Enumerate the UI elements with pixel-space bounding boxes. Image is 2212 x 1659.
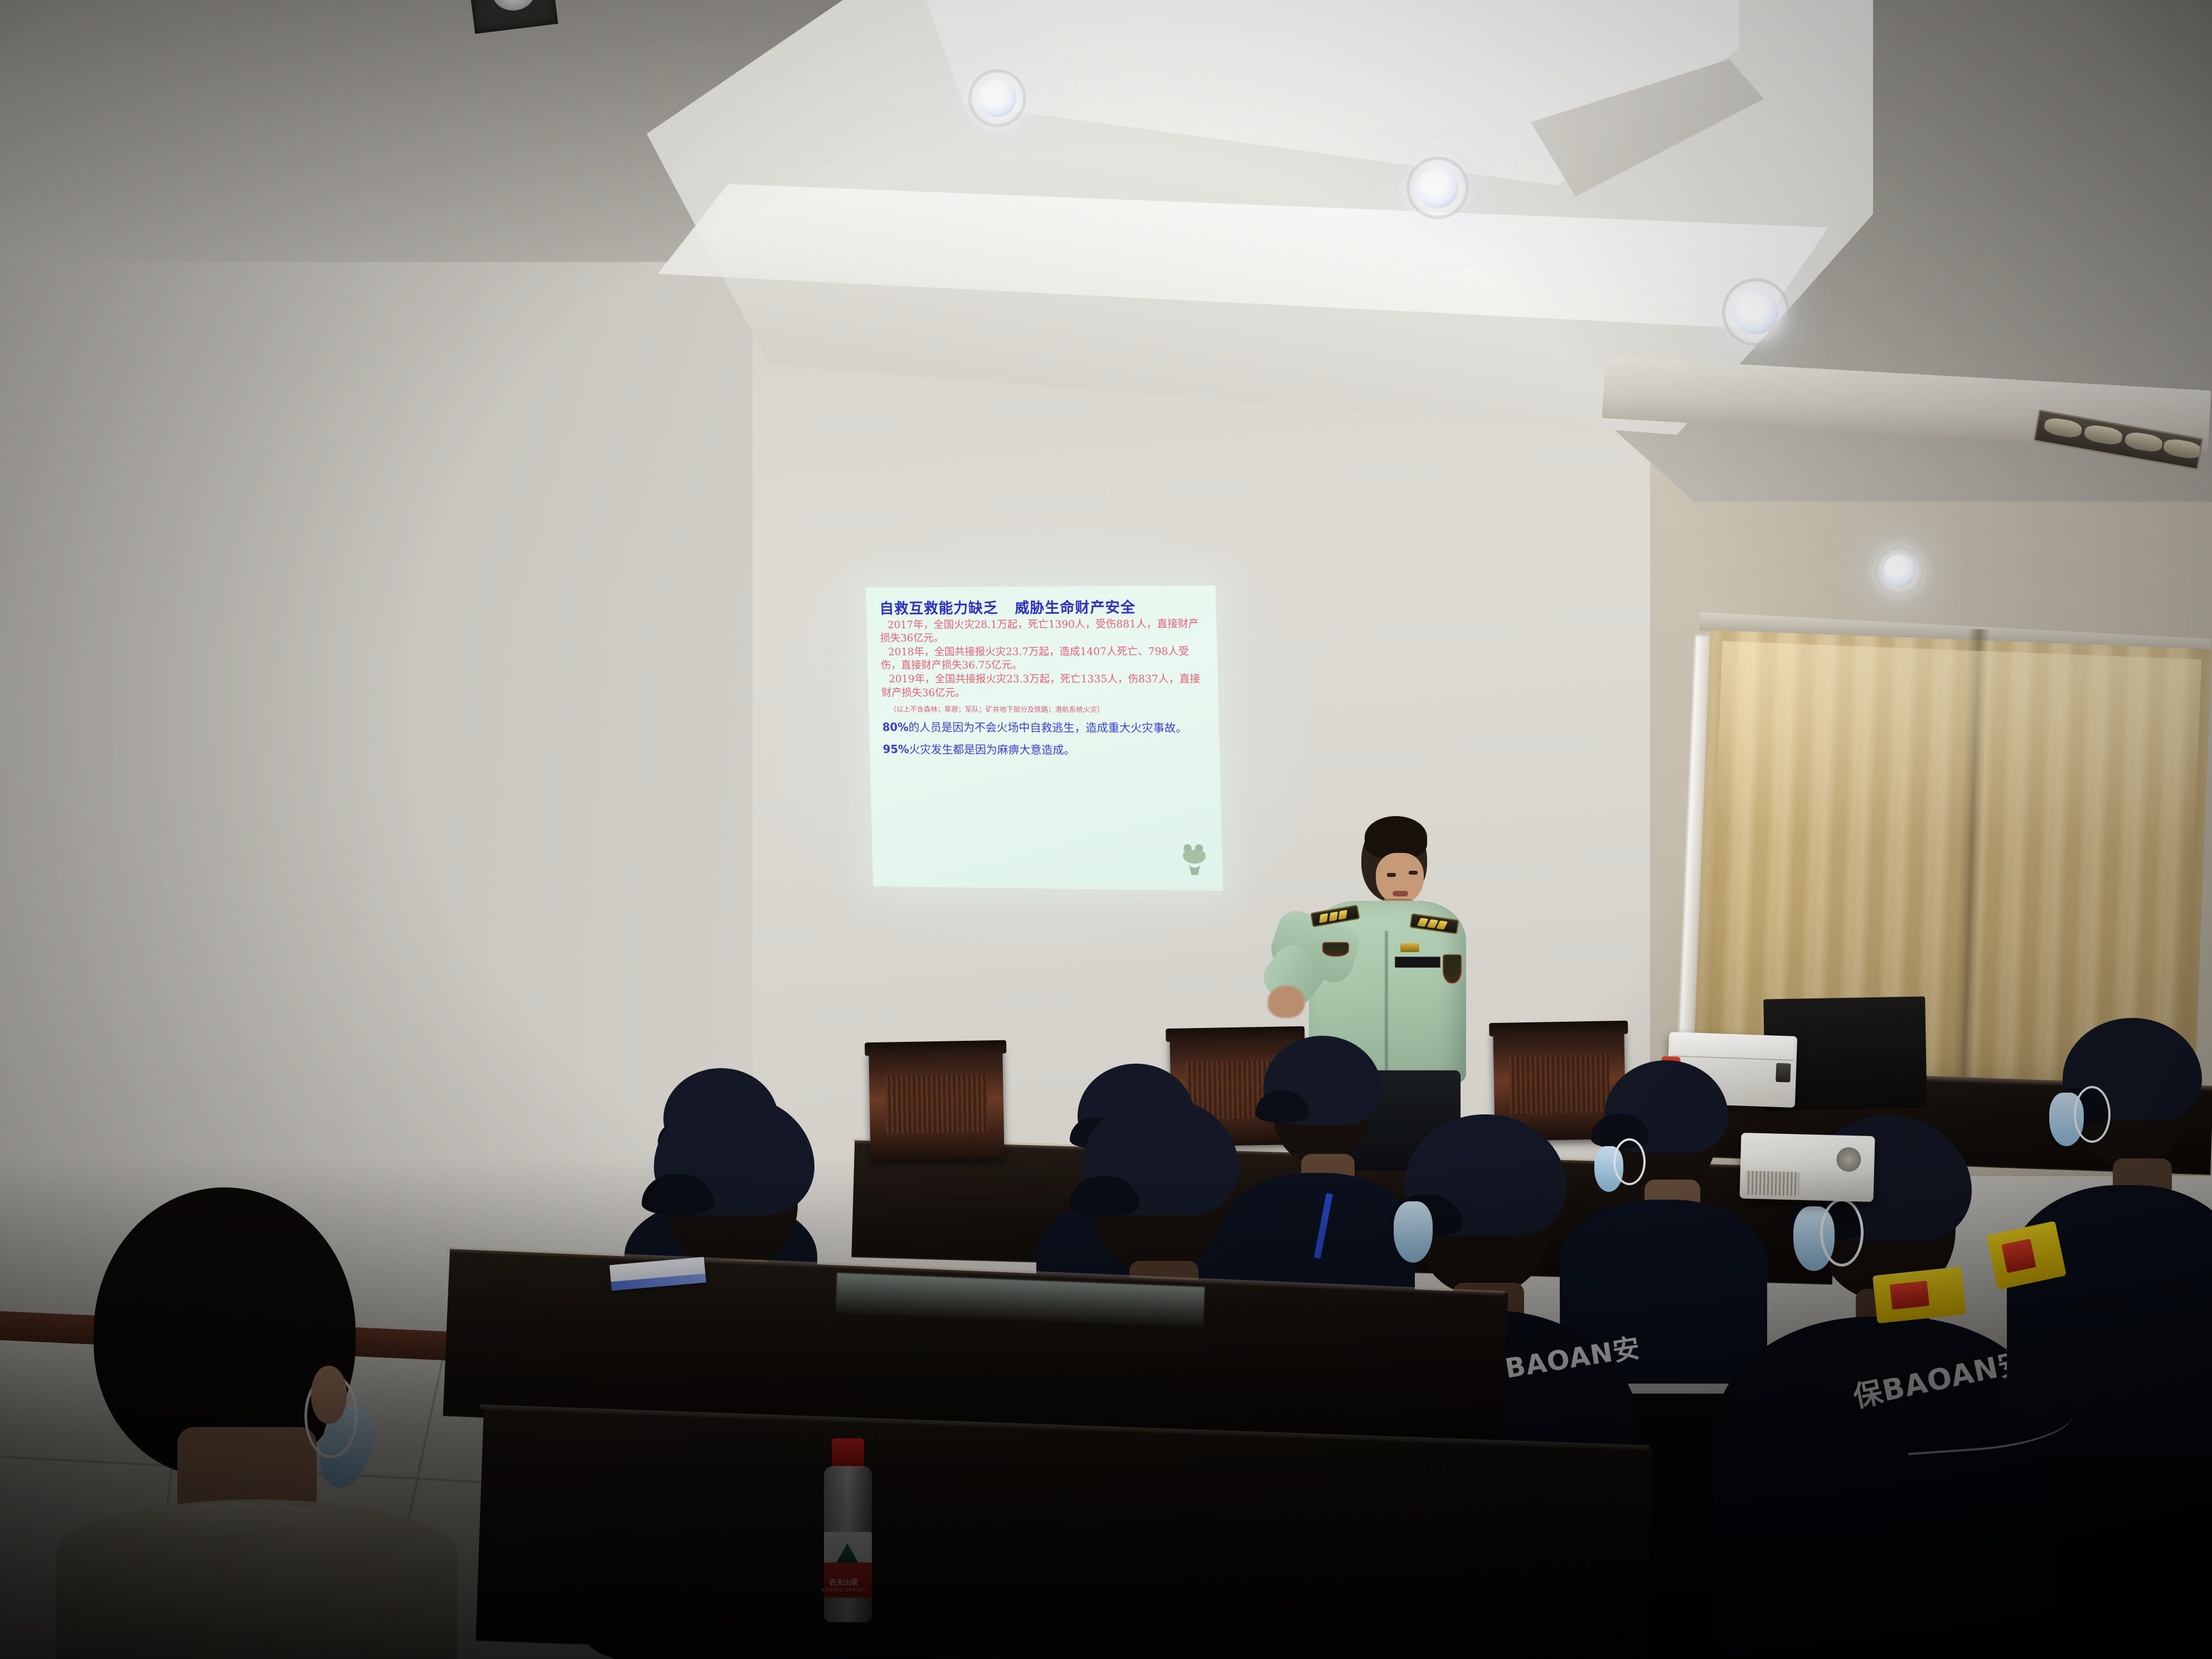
chair-back-left[interactable] (869, 1047, 1004, 1161)
instructor-eye-left (1387, 873, 1396, 877)
downlight-bulb (978, 79, 1016, 117)
armband-emblem (2001, 1239, 2036, 1273)
instructor-eye-right (1409, 871, 1418, 875)
attendee-mask-strap (1820, 1199, 1864, 1267)
slide-title-right: 威胁生命财产安全 (1015, 599, 1136, 617)
instructor-chest-badge (1400, 943, 1419, 952)
chair-cap (865, 1040, 1007, 1056)
slide-footnote: （以上不含森林；草原；军队；矿井地下部分及铁路；港航系统火灾） (882, 705, 1206, 714)
instructor-mouth (1393, 891, 1408, 896)
slide-highlight-95-pct: 95% (882, 743, 909, 756)
bottle-brand-cn: 农夫山泉 (819, 1576, 867, 1587)
bottle-brand-pinyin: NONGFU SPRING (819, 1588, 867, 1593)
projector[interactable] (1739, 1133, 1875, 1202)
attendee-face-mask (1394, 1201, 1433, 1263)
meeting-room-photo: 自救互救能力缺乏威胁生命财产安全 2017年，全国火灾28.1万起，死亡1390… (0, 0, 2212, 1659)
slide-highlight-95: 95%火灾发生都是因为麻痹大意造成。 (882, 743, 1207, 758)
civilian-collar (115, 1503, 349, 1545)
ceiling-downlight-2 (1417, 167, 1458, 208)
attendee-front-civilian (33, 1187, 457, 1659)
slide-stat-2019: 2019年，全国共接报火灾23.3万起，死亡1335人，伤837人，直接财产损失… (881, 673, 1205, 700)
projector-vent (1745, 1171, 1799, 1196)
attendee-armband (1873, 1267, 1966, 1323)
downlight-bulb (1417, 167, 1458, 208)
instructor-shoulder-patch (1443, 954, 1462, 983)
slide-stat-2018: 2018年，全国共接报火灾23.7万起，造成1407人死亡、798人受伤，直接财… (880, 646, 1205, 673)
instructor-hair (1365, 816, 1427, 858)
armband-emblem (1890, 1280, 1929, 1309)
chair-slats (885, 1074, 988, 1133)
water-bottle[interactable]: 农夫山泉 NONGFU SPRING (819, 1438, 877, 1622)
projected-slide: 自救互救能力缺乏威胁生命财产安全 2017年，全国火灾28.1万起，死亡1390… (866, 585, 1223, 891)
slide-stat-2017: 2017年，全国火灾28.1万起，死亡1390人，受伤881人，直接财产损失36… (880, 618, 1204, 646)
ceiling-downlight-3 (1734, 290, 1778, 334)
slide-highlight-80: 80%的人员是因为不会火场中自救逃生，造成重大火灾事故。 (882, 720, 1207, 735)
attendee-mask-strap (2074, 1086, 2111, 1143)
instructor-hand (1268, 986, 1304, 1018)
downlight-bulb (1883, 555, 1915, 587)
slide-highlight-80-pct: 80% (882, 720, 909, 734)
attendee-guard-9 (2007, 1009, 2212, 1455)
slide-title-left: 自救互救能力缺乏 (879, 600, 998, 618)
projector-case-latch (1776, 1063, 1791, 1082)
ceiling-fixture-lens (490, 0, 538, 13)
downlight-bulb (1734, 290, 1778, 334)
ceiling-downlight-4 (1883, 555, 1915, 587)
slide-highlight-95-text: 火灾发生都是因为麻痹大意造成。 (909, 743, 1075, 756)
bottle-cap (832, 1438, 864, 1467)
civilian-ear (311, 1366, 347, 1424)
ceiling-downlight-1 (978, 79, 1016, 117)
slide-highlight-80-text: 的人员是因为不会火场中自救逃生，造成重大火灾事故。 (908, 720, 1187, 734)
instructor-face (1376, 853, 1424, 904)
slide-watermark-icon (1177, 841, 1211, 878)
chair-cap (1489, 1021, 1628, 1036)
slide-title: 自救互救能力缺乏威胁生命财产安全 (879, 600, 1204, 617)
instructor-sleeve-patch (1322, 942, 1349, 957)
projector-lens-icon (1836, 1147, 1861, 1172)
instructor-name-tag (1395, 957, 1440, 968)
